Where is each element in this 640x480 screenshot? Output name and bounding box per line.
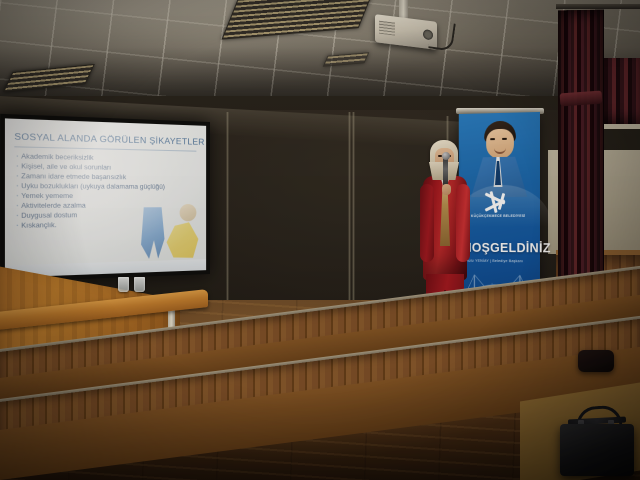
photo-scene: SOSYAL ALANDA GÖRÜLEN ŞİKAYETLER Akademi…	[0, 0, 640, 480]
portrait-face	[486, 129, 514, 160]
projection-screen-frame: SOSYAL ALANDA GÖRÜLEN ŞİKAYETLER Akademi…	[0, 114, 210, 282]
slide-bullet: Kıskançlık.	[17, 220, 151, 231]
slide-bullet: Yemek yememe	[17, 191, 151, 201]
drinking-glass[interactable]	[134, 277, 145, 292]
portrait-eye	[502, 138, 507, 140]
drinking-glass[interactable]	[118, 277, 129, 292]
slide-bullet: Uyku bozuklukları (uykuya dalamama güçlü…	[17, 182, 151, 192]
speaker-right-arm	[456, 184, 470, 262]
laptop-bag[interactable]	[560, 424, 634, 476]
speaker-left-arm	[420, 184, 434, 262]
curtain-rod	[556, 4, 640, 9]
slide-title-rule	[14, 146, 196, 151]
municipality-logo-text: KÜÇÜKÇEKMECE BELEDİYESİ	[469, 214, 528, 219]
projection-screen: SOSYAL ALANDA GÖRÜLEN ŞİKAYETLER Akademi…	[5, 118, 206, 277]
banner-mayor-line: Aziz YENİAY | Belediye Başkanı	[467, 259, 538, 264]
banner-headline: HOŞGELDİNİZ	[463, 241, 542, 255]
slide-title: SOSYAL ALANDA GÖRÜLEN ŞİKAYETLER	[14, 131, 200, 147]
child-head-graphic	[180, 204, 197, 221]
microphone-icon[interactable]	[443, 157, 448, 187]
jeans-graphic	[139, 207, 166, 259]
speaker-hand	[442, 184, 451, 195]
slide-illustration	[137, 203, 199, 263]
small-bag[interactable]	[578, 350, 614, 372]
child-graphic	[165, 218, 199, 259]
municipality-logo-icon	[482, 191, 508, 213]
slide-bullet-list: Akademik beceriksizlik Kişisel, aile ve …	[17, 152, 151, 231]
portrait-eye	[490, 138, 495, 140]
